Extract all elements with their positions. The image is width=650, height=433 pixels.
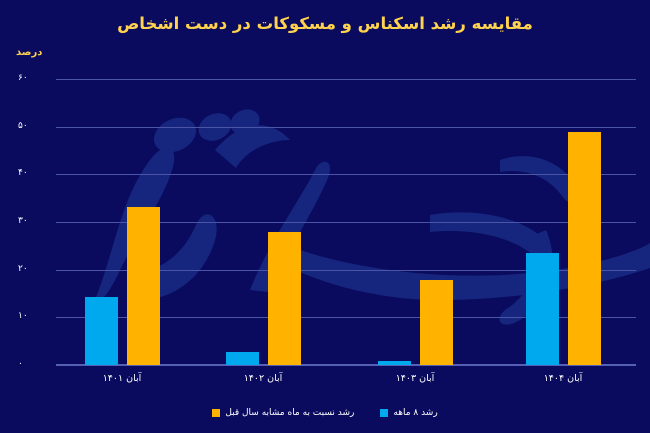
- x-tick-label-4: آبان ۱۴۰۴: [513, 373, 613, 384]
- bar-blue-1: [85, 297, 118, 365]
- chart-title: مقایسه رشد اسکناس و مسکوکات در دست اشخاص: [0, 14, 650, 33]
- bar-blue-2: [226, 352, 259, 365]
- bar-blue-4: [526, 253, 559, 365]
- legend-label: رشد ۸ ماهه: [393, 408, 437, 418]
- legend-item-1[interactable]: رشد نسبت به ماه مشابه سال قبل: [212, 408, 354, 418]
- legend-swatch-icon: [380, 409, 388, 417]
- y-tick-label: ۰: [18, 359, 48, 369]
- bar-orange-4: [568, 132, 601, 365]
- y-tick-label: ۱۰: [18, 311, 48, 321]
- gridline: [56, 127, 636, 128]
- gridline: [56, 79, 636, 80]
- bar-orange-1: [127, 207, 160, 365]
- y-tick-label: ۶۰: [18, 73, 48, 83]
- bar-orange-2: [268, 232, 301, 365]
- y-tick-label: ۳۰: [18, 216, 48, 226]
- plot-area: ۰۱۰۲۰۳۰۴۰۵۰۶۰: [56, 79, 636, 365]
- legend-swatch-icon: [212, 409, 220, 417]
- bar-orange-3: [420, 280, 453, 365]
- y-tick-label: ۵۰: [18, 121, 48, 131]
- legend-item-2[interactable]: رشد ۸ ماهه: [380, 408, 437, 418]
- x-tick-label-2: آبان ۱۴۰۲: [213, 373, 313, 384]
- chart-legend: رشد نسبت به ماه مشابه سال قبلرشد ۸ ماهه: [0, 408, 650, 418]
- chart-canvas: مقایسه رشد اسکناس و مسکوکات در دست اشخاص…: [0, 0, 650, 433]
- y-tick-label: ۴۰: [18, 168, 48, 178]
- legend-label: رشد نسبت به ماه مشابه سال قبل: [225, 408, 354, 418]
- bar-blue-3: [378, 361, 411, 365]
- gridline: [56, 174, 636, 175]
- y-axis-label: درصد: [16, 47, 42, 58]
- x-tick-label-3: آبان ۱۴۰۳: [365, 373, 465, 384]
- y-tick-label: ۲۰: [18, 264, 48, 274]
- x-tick-label-1: آبان ۱۴۰۱: [72, 373, 172, 384]
